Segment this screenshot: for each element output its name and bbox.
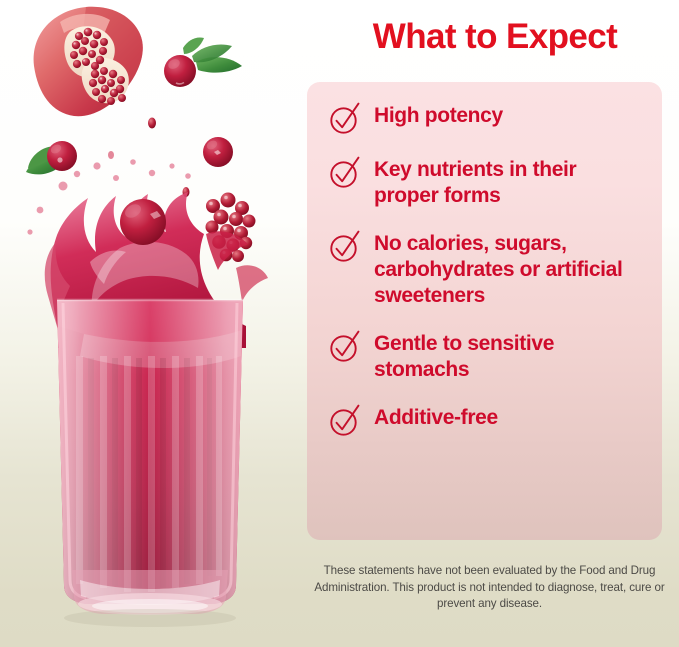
fda-disclaimer: These statements have not been evaluated… [300,563,679,613]
aril-droplets [108,118,190,198]
juice-illustration [0,0,300,647]
juice-glass [57,300,243,615]
cranberry-berry [203,137,233,167]
product-info-poster: What to Expect High potency [0,0,679,647]
list-item: No calories, sugars, carbohydrates or ar… [329,228,648,309]
benefit-label: No calories, sugars, carbohydrates or ar… [374,228,642,309]
pomegranate-wedge [34,7,143,116]
benefit-label: Additive-free [374,402,498,431]
list-item: High potency [329,100,648,135]
page-title: What to Expect [325,16,665,58]
list-item: Additive-free [329,402,648,437]
check-circle-icon [329,403,361,437]
check-circle-icon [329,101,361,135]
cranberry-with-leaves [164,37,242,87]
list-item: Gentle to sensitive stomachs [329,328,648,383]
benefit-label: High potency [374,100,503,129]
benefit-label: Key nutrients in their proper forms [374,154,642,209]
list-item: Key nutrients in their proper forms [329,154,648,209]
check-circle-icon [329,155,361,189]
benefits-card: High potency Key nutrients in their prop… [307,82,662,540]
product-image [0,0,300,647]
benefit-list: High potency Key nutrients in their prop… [307,82,662,456]
check-circle-icon [329,329,361,363]
cranberry-with-leaves-left [26,141,77,174]
content-column: What to Expect High potency [300,0,679,647]
benefit-label: Gentle to sensitive stomachs [374,328,642,383]
check-circle-icon [329,229,361,263]
